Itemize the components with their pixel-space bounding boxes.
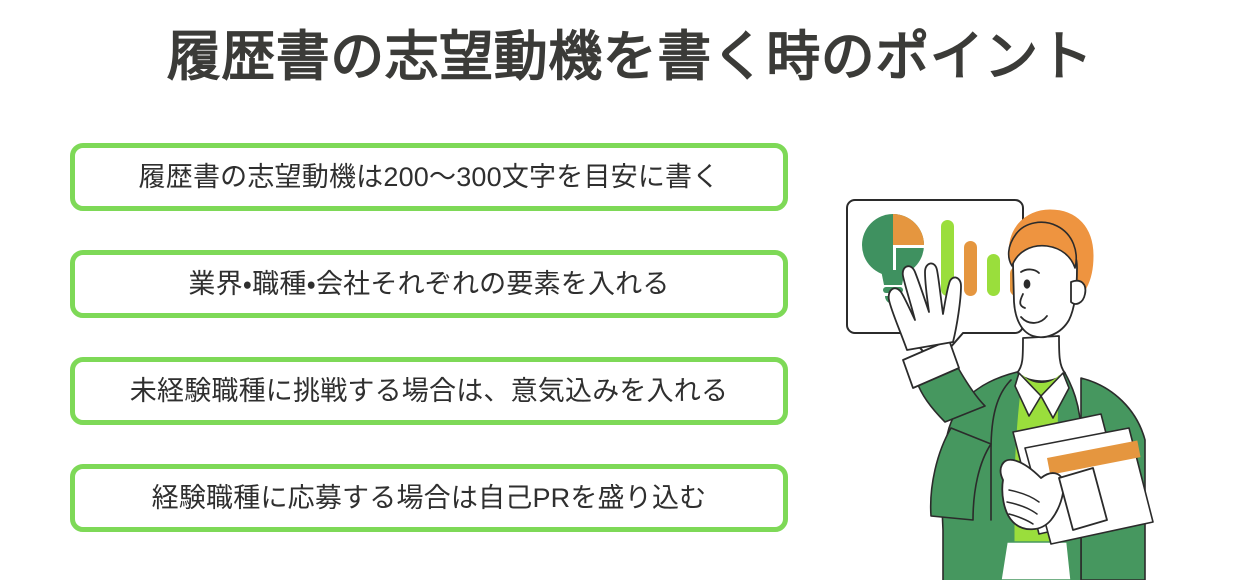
bar-3: [987, 254, 1000, 296]
businessman-illustration: [889, 210, 1153, 580]
bar-2: [964, 241, 977, 296]
point-box-1: 履歴書の志望動機は200〜300文字を目安に書く: [70, 143, 788, 211]
point-box-4: 経験職種に応募する場合は自己PRを盛り込む: [70, 464, 788, 532]
points-list: 履歴書の志望動機は200〜300文字を目安に書く 業界・職種・会社それぞれの要素…: [70, 143, 788, 532]
illustration-group: [845, 190, 1155, 580]
page-title: 履歴書の志望動機を書く時のポイント: [0, 26, 1260, 88]
point-label-2: 業界・職種・会社それぞれの要素を入れる: [188, 268, 669, 300]
point-label-3: 未経験職種に挑戦する場合は、意気込みを入れる: [130, 375, 728, 407]
point-box-2: 業界・職種・会社それぞれの要素を入れる: [70, 250, 788, 318]
infographic-canvas: 履歴書の志望動機を書く時のポイント 履歴書の志望動機は200〜300文字を目安に…: [0, 0, 1260, 582]
point-box-3: 未経験職種に挑戦する場合は、意気込みを入れる: [70, 357, 788, 425]
point-label-4: 経験職種に応募する場合は自己PRを盛り込む: [152, 482, 707, 514]
point-label-1: 履歴書の志望動機は200〜300文字を目安に書く: [139, 161, 720, 193]
